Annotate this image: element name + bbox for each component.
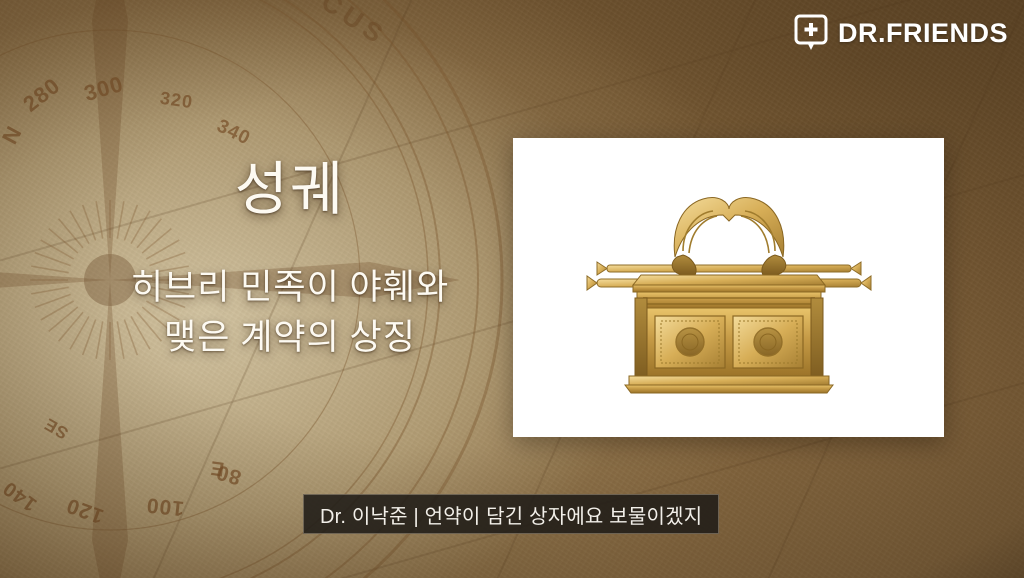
brand-logo-text: DR.FRIENDS bbox=[838, 20, 1008, 47]
subtitle-line-1: 히브리 민족이 야훼와 bbox=[40, 263, 540, 313]
page-title: 성궤 bbox=[40, 160, 540, 221]
subtitle-caption-bar: Dr. 이낙준 | 언약이 담긴 상자에요 보물이겠지 bbox=[303, 494, 719, 534]
ark-of-the-covenant-image bbox=[513, 138, 944, 437]
image-panel bbox=[513, 138, 944, 437]
compass-label-320: 320 bbox=[159, 88, 195, 113]
title-block: 성궤 히브리 민족이 야훼와 맺은 계약의 상징 bbox=[40, 160, 540, 362]
caption-text: Dr. 이낙준 | 언약이 담긴 상자에요 보물이겠지 bbox=[320, 500, 702, 529]
plus-speech-bubble-icon bbox=[794, 14, 828, 52]
video-frame: 280 300 320 340 N E SE 80 100 120 140 CU… bbox=[0, 0, 1024, 578]
subtitle-line-2: 맺은 계약의 상징 bbox=[40, 313, 540, 363]
brand-logo[interactable]: DR.FRIENDS bbox=[794, 14, 1008, 52]
compass-label-100: 100 bbox=[145, 492, 185, 520]
